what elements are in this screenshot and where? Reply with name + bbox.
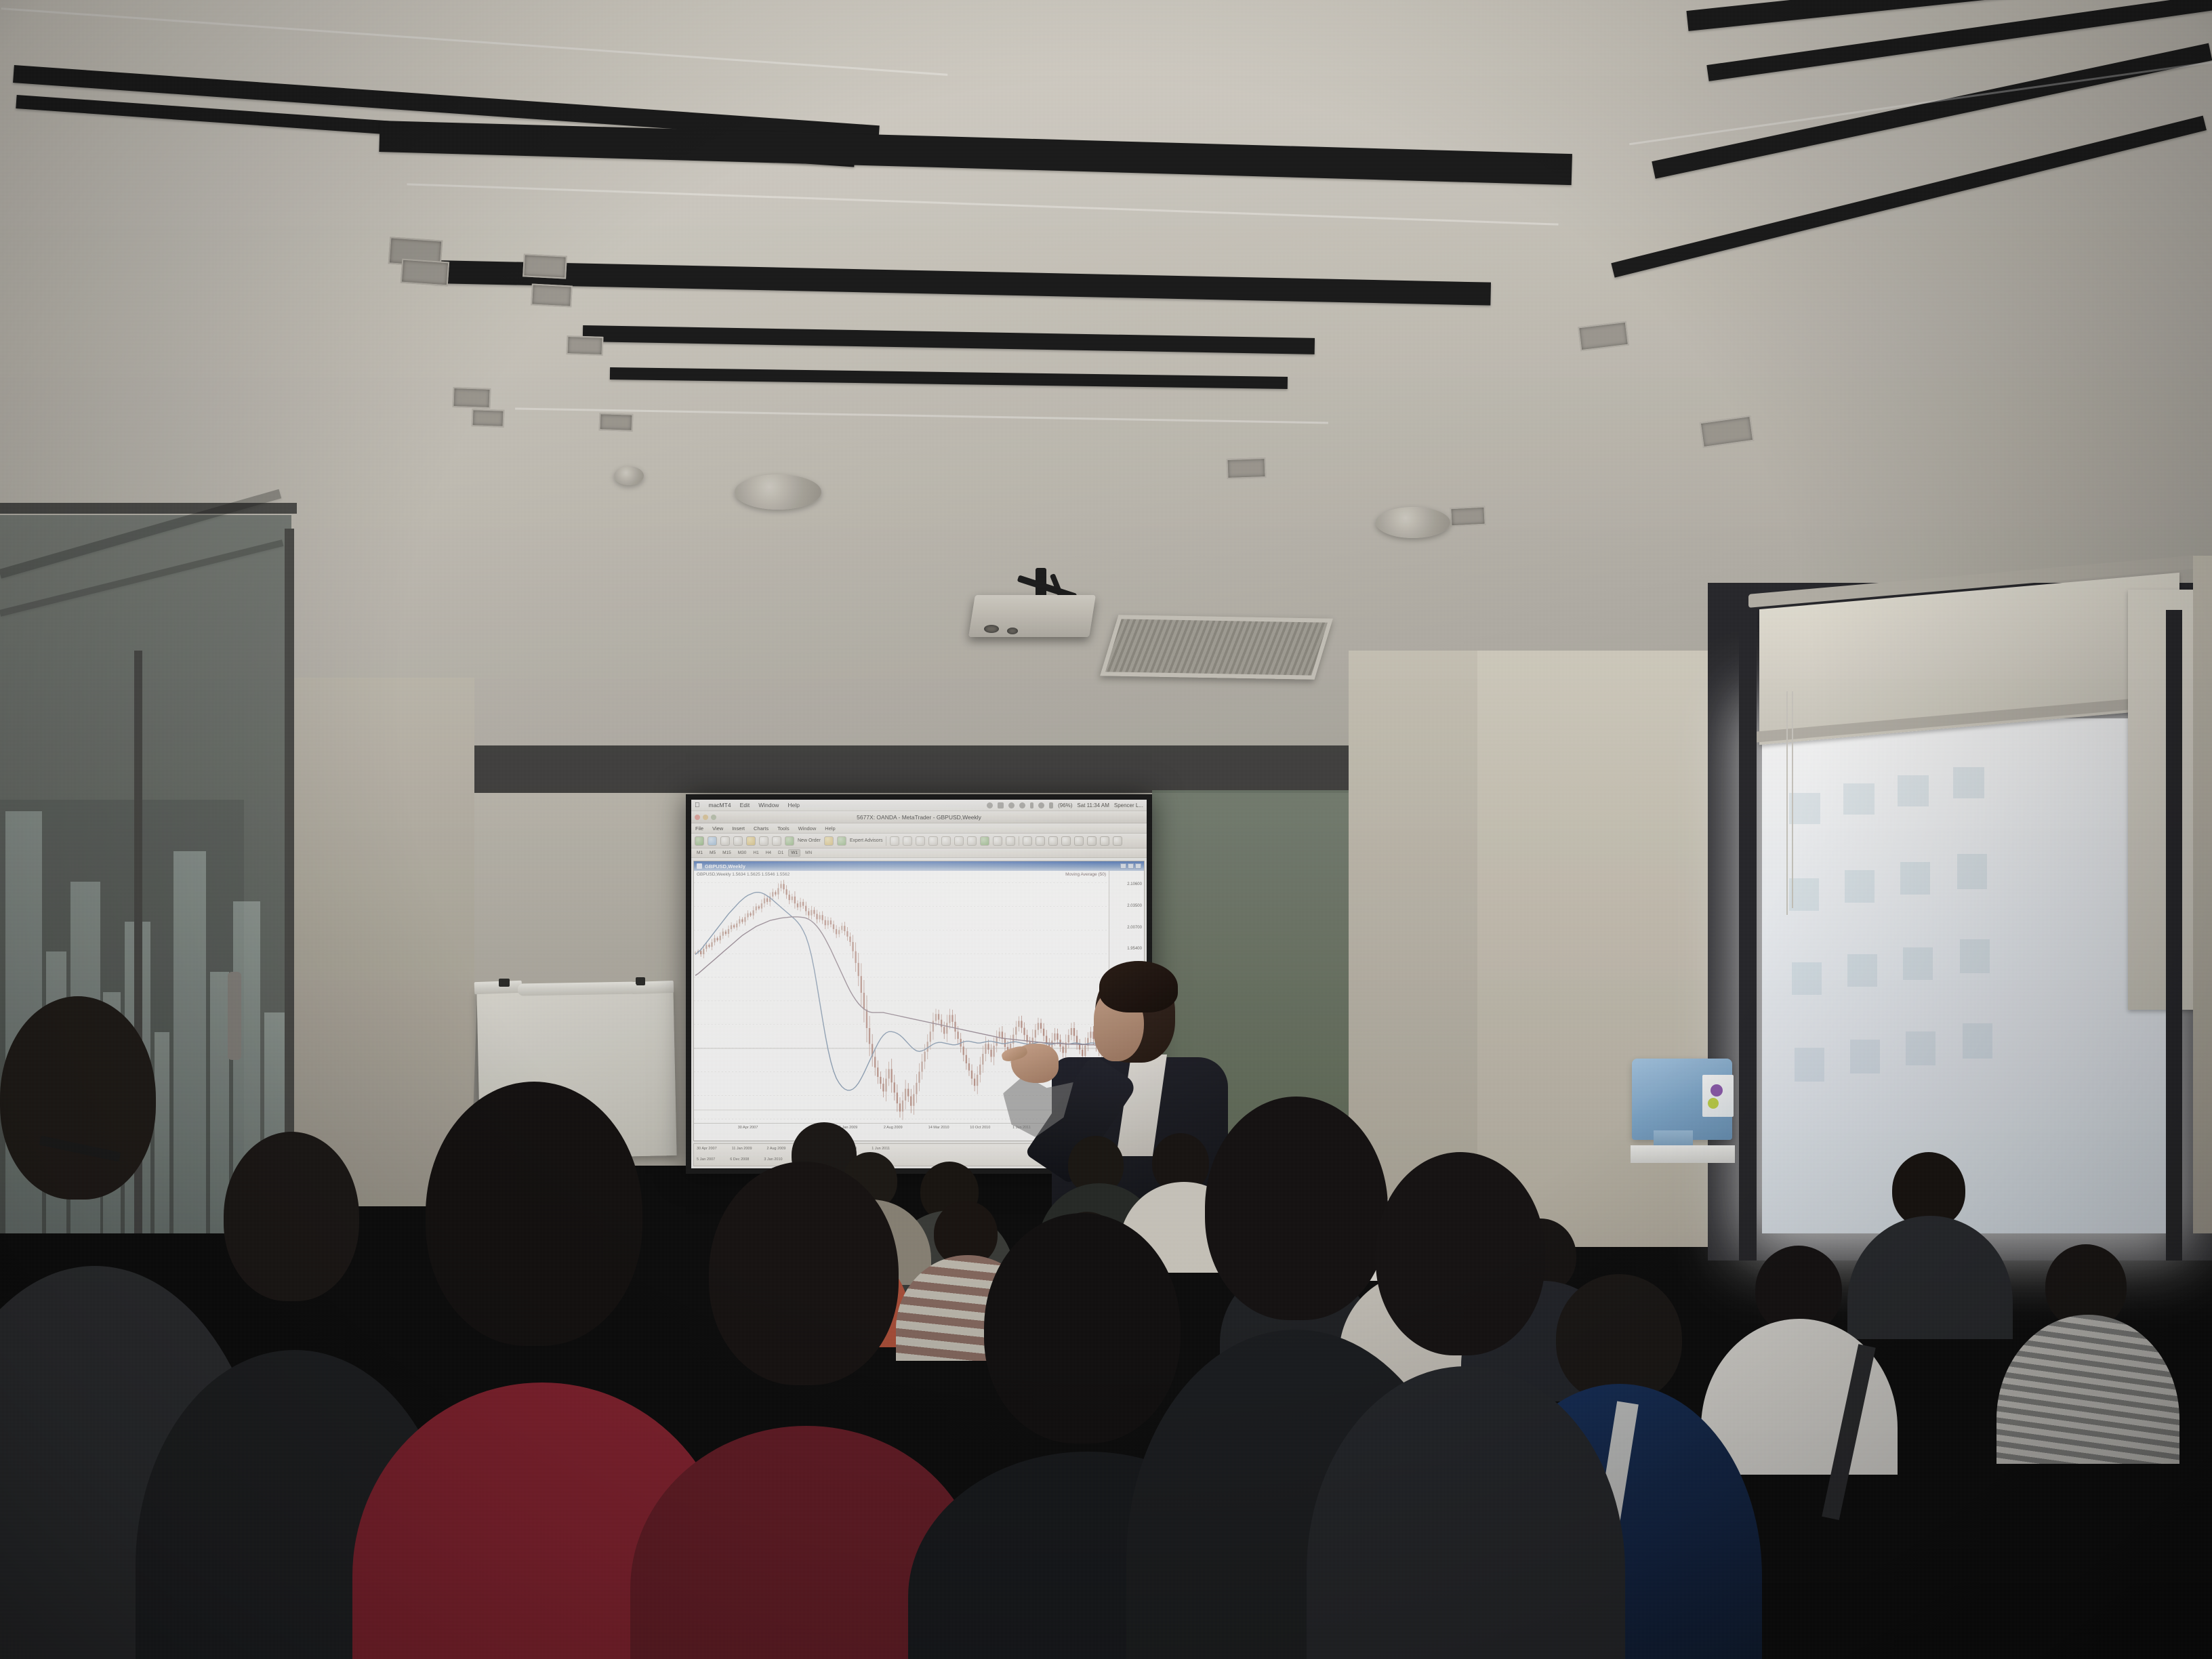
volume-icon[interactable]: [1049, 802, 1053, 808]
toolbar-separator: [1019, 836, 1019, 846]
ceiling-ac-vent: [1100, 615, 1333, 680]
expert-advisors-icon[interactable]: [837, 836, 846, 846]
mt4-window-titlebar: 5677X: OANDA - MetaTrader - GBPUSD,Weekl…: [691, 811, 1147, 823]
minimize-button[interactable]: [703, 815, 708, 820]
head: [426, 1082, 642, 1346]
templates-icon[interactable]: [1006, 836, 1015, 846]
chart-window-title: GBPUSD,Weekly: [705, 863, 745, 869]
ceiling-downlight: [523, 253, 567, 279]
ceiling-downlight: [567, 335, 604, 356]
building-outside: [1843, 783, 1875, 815]
toolbar-separator: [886, 836, 886, 846]
trendline-icon[interactable]: [1074, 836, 1084, 846]
timeframe-m15[interactable]: M15: [720, 850, 733, 856]
building-outside: [1789, 878, 1819, 911]
zoom-out-icon[interactable]: [941, 836, 951, 846]
glass-door-frame: [285, 529, 294, 1206]
striped-shirt-shoulders: [1996, 1315, 2179, 1464]
crosshair-icon[interactable]: [1036, 836, 1045, 846]
building-outside: [1850, 1040, 1880, 1073]
ceiling-speaker: [614, 466, 644, 485]
presenter-hair: [1099, 961, 1178, 1012]
time-tick: 30 Apr 2007: [738, 1126, 758, 1130]
time-tick: 2 Aug 2009: [884, 1126, 903, 1130]
right-wall-strip: [2193, 556, 2212, 1233]
flipchart-sheet-roll: [518, 981, 637, 996]
mt4-menu-insert[interactable]: Insert: [732, 825, 745, 832]
mt4-menu-tools[interactable]: Tools: [777, 825, 790, 832]
mt4-menubar[interactable]: File View Insert Charts Tools Window Hel…: [691, 823, 1147, 834]
line-chart-icon[interactable]: [916, 836, 925, 846]
terminal-cell: 5 Jan 2007: [697, 1158, 715, 1164]
terminal-cell: 2 Aug 2009: [767, 1147, 786, 1153]
restore-button[interactable]: [1128, 863, 1134, 869]
text-icon[interactable]: [1113, 836, 1122, 846]
head: [224, 1132, 359, 1301]
window-mullion: [1739, 610, 1757, 1261]
wifi-icon[interactable]: [1038, 802, 1044, 808]
projector-lens-icon: [1007, 628, 1018, 634]
flipchart-clip: [636, 977, 645, 985]
timeframe-mn[interactable]: MN: [803, 850, 814, 856]
chart-window-titlebar[interactable]: GBPUSD,Weekly: [694, 861, 1144, 871]
building-outside: [1906, 1031, 1935, 1065]
candlestick-chart-svg: [694, 871, 1109, 1123]
price-tick: 2.03500: [1127, 904, 1142, 908]
ceiling-downlight: [599, 413, 634, 432]
menubar-user[interactable]: Spencer L...: [1114, 802, 1143, 808]
mt4-menu-file[interactable]: File: [695, 825, 703, 832]
fibonacci-icon[interactable]: [1100, 836, 1109, 846]
timeframe-h1[interactable]: H1: [751, 850, 760, 856]
timeframe-h4[interactable]: H4: [764, 850, 773, 856]
mt4-toolbar[interactable]: New Order Expert Advisors: [691, 834, 1147, 848]
indicators-icon[interactable]: [980, 836, 989, 846]
chart-shift-icon[interactable]: [967, 836, 977, 846]
mt4-menu-help[interactable]: Help: [825, 825, 835, 832]
building-outside: [1795, 1048, 1824, 1082]
building-outside: [1953, 767, 1984, 798]
water-cooler-label-dot: [1711, 1084, 1723, 1097]
ceiling-downlight: [1226, 457, 1266, 479]
close-button[interactable]: [1135, 863, 1141, 869]
building-outside: [1957, 854, 1987, 889]
price-plot[interactable]: [694, 871, 1109, 1123]
window-traffic-lights[interactable]: [695, 815, 716, 820]
battery-percent[interactable]: (96%): [1058, 802, 1072, 808]
window-mullion: [2166, 610, 2182, 1261]
projector-lens-icon: [984, 625, 999, 633]
chart-gridlines: [694, 883, 1109, 1120]
new-chart-icon[interactable]: [695, 836, 704, 846]
zoom-button[interactable]: [711, 815, 716, 820]
head: [984, 1213, 1181, 1443]
building-outside: [1903, 947, 1933, 980]
profiles-icon[interactable]: [708, 836, 717, 846]
flipchart-clip: [499, 979, 510, 987]
mt4-menu-view[interactable]: View: [712, 825, 723, 832]
auto-scroll-icon[interactable]: [954, 836, 964, 846]
building-outside: [1960, 939, 1990, 973]
apple-logo-icon[interactable]: : [695, 802, 700, 809]
building-outside: [1898, 775, 1929, 806]
chart-window-buttons[interactable]: [1120, 863, 1141, 869]
time-tick: 14 Mar 2010: [928, 1126, 949, 1130]
ceiling-downlight: [1450, 506, 1486, 527]
zoom-in-icon[interactable]: [928, 836, 938, 846]
mt4-menu-window[interactable]: Window: [798, 825, 817, 832]
expert-advisors-label[interactable]: Expert Advisors: [850, 838, 883, 843]
horizontal-line-icon[interactable]: [1061, 836, 1071, 846]
head: [0, 996, 156, 1200]
chart-icon: [697, 863, 702, 869]
water-cooler-base: [1631, 1145, 1735, 1163]
ceiling-speaker: [1376, 507, 1450, 538]
market-watch-icon[interactable]: [720, 836, 730, 846]
bar-chart-icon[interactable]: [890, 836, 899, 846]
glass-door-handle: [228, 972, 241, 1060]
menu-help[interactable]: Help: [787, 802, 799, 808]
navigator-icon[interactable]: [746, 836, 756, 846]
shoulders: [1701, 1319, 1898, 1475]
autotrading-icon[interactable]: [824, 836, 834, 846]
airplay-icon[interactable]: [987, 802, 993, 808]
strategy-tester-icon[interactable]: [772, 836, 781, 846]
price-tick: 2.10600: [1127, 882, 1142, 886]
terminal-cell: 11 Jan 2009: [732, 1147, 752, 1153]
candlestick-icon[interactable]: [903, 836, 912, 846]
flipchart-top-rail: [474, 981, 523, 994]
data-window-icon[interactable]: [733, 836, 743, 846]
timeframe-d1[interactable]: D1: [776, 850, 785, 856]
menu-window[interactable]: Window: [758, 802, 779, 808]
timeframe-bar[interactable]: M1 M5 M15 M30 H1 H4 D1 W1 MN: [691, 848, 1147, 858]
periods-icon[interactable]: [993, 836, 1002, 846]
building-outside: [1963, 1023, 1992, 1059]
mt4-window-title: 5677X: OANDA - MetaTrader - GBPUSD,Weekl…: [857, 814, 981, 821]
timeframe-w1[interactable]: W1: [788, 849, 800, 857]
mac-menubar[interactable]:  macMT4 Edit Window Help (96%) Sat 11:3…: [691, 800, 1147, 811]
head: [1376, 1152, 1545, 1355]
roller-blind-cord: [1792, 691, 1793, 908]
time-tick: 10 Oct 2010: [970, 1126, 990, 1130]
time-machine-icon[interactable]: [1008, 802, 1015, 808]
ceiling-downlight: [531, 283, 573, 307]
menu-edit[interactable]: Edit: [740, 802, 750, 808]
ceiling-downlight: [401, 259, 449, 287]
candlestick-series: [695, 880, 1108, 1120]
bluetooth-icon[interactable]: [1019, 802, 1025, 808]
ceiling-speaker: [735, 474, 821, 510]
cursor-icon[interactable]: [1023, 836, 1032, 846]
input-source-icon[interactable]: [1030, 802, 1033, 808]
building-outside: [1845, 870, 1875, 903]
head: [1205, 1097, 1388, 1320]
seminar-room-photo:  macMT4 Edit Window Help (96%) Sat 11:3…: [0, 0, 2212, 1659]
building-outside: [1847, 954, 1877, 987]
equidistant-channel-icon[interactable]: [1087, 836, 1097, 846]
price-tick: 1.95400: [1127, 947, 1142, 951]
terminal-cell: 30 Apr 2007: [697, 1147, 717, 1153]
close-button[interactable]: [695, 815, 700, 820]
terminal-cell: 3 Jan 2010: [764, 1158, 782, 1164]
terminal-icon[interactable]: [759, 836, 769, 846]
vertical-line-icon[interactable]: [1048, 836, 1058, 846]
timeframe-m1[interactable]: M1: [695, 850, 705, 856]
mt4-menu-charts[interactable]: Charts: [754, 825, 769, 832]
new-order-label[interactable]: New Order: [798, 838, 821, 843]
minimize-button[interactable]: [1120, 863, 1126, 869]
roller-blind-cord: [1786, 691, 1788, 915]
timeframe-m5[interactable]: M5: [708, 850, 718, 856]
ceiling-downlight: [472, 409, 505, 428]
price-tick: 2.00700: [1127, 926, 1142, 930]
timeframe-m30[interactable]: M30: [736, 850, 749, 856]
menubar-clock[interactable]: Sat 11:34 AM: [1077, 802, 1109, 808]
water-cooler-label-dot: [1708, 1098, 1719, 1109]
menu-macmt4[interactable]: macMT4: [709, 802, 731, 808]
back-wall-dark-band: [447, 745, 1464, 793]
moving-average-slow-line: [695, 917, 1107, 1046]
menubar-status-area[interactable]: (96%) Sat 11:34 AM Spencer L...: [987, 802, 1143, 808]
window-glass: [1762, 718, 2169, 1233]
building-outside: [1900, 862, 1930, 895]
head: [709, 1162, 899, 1385]
new-order-icon[interactable]: [785, 836, 794, 846]
building-outside: [1789, 793, 1820, 824]
ceiling-downlight: [452, 387, 491, 409]
dropbox-icon[interactable]: [998, 802, 1004, 808]
building-outside: [1792, 962, 1822, 995]
terminal-cell: 6 Dec 2008: [730, 1158, 749, 1164]
